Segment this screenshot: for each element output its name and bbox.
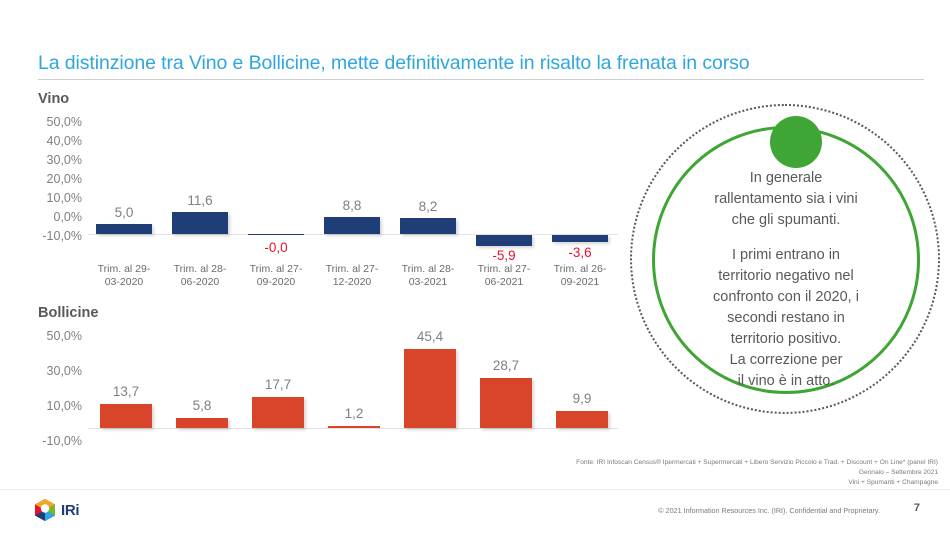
- value-label-bollicine-1: 5,8: [166, 398, 238, 413]
- callout-line-9: La correzione per: [668, 350, 904, 371]
- bar-vino-0[interactable]: [96, 224, 152, 234]
- x-label-vino-6-line1: Trim. al 26-: [544, 263, 616, 276]
- y-tick-bollicine-1: 30,0%: [20, 365, 82, 400]
- x-label-vino-6-line2: 09-2021: [544, 276, 616, 289]
- slide-footer: IRi © 2021 Information Resources Inc. (I…: [0, 489, 950, 534]
- x-label-vino-0-line1: Trim. al 29-: [88, 263, 160, 276]
- y-tick-vino-2: 30,0%: [20, 154, 82, 173]
- source-line-1: Fonte: IRI Infoscan Census® Ipermercati …: [576, 458, 938, 468]
- x-label-vino-1: Trim. al 28- 06-2020: [164, 263, 236, 289]
- bar-bollicine-4[interactable]: [404, 349, 456, 428]
- bar-vino-1[interactable]: [172, 212, 228, 234]
- x-label-vino-5-line1: Trim. al 27-: [468, 263, 540, 276]
- x-label-vino-3: Trim. al 27- 12-2020: [316, 263, 388, 289]
- callout-line-8: territorio positivo.: [668, 329, 904, 350]
- x-label-vino-1-line2: 06-2020: [164, 276, 236, 289]
- slide-canvas: La distinzione tra Vino e Bollicine, met…: [0, 0, 950, 534]
- value-label-vino-5: -5,9: [468, 248, 540, 263]
- bar-vino-2[interactable]: [248, 234, 304, 235]
- green-dot-icon: [770, 116, 822, 168]
- y-tick-vino-4: 10,0%: [20, 192, 82, 211]
- source-line-3: Vini + Spumanti + Champagne: [576, 478, 938, 488]
- x-label-vino-4: Trim. al 28- 03-2021: [392, 263, 464, 289]
- callout-line-1: In generale: [668, 168, 904, 189]
- x-label-vino-4-line1: Trim. al 28-: [392, 263, 464, 276]
- title-block: La distinzione tra Vino e Bollicine, met…: [38, 52, 918, 80]
- y-tick-bollicine-2: 10,0%: [20, 400, 82, 435]
- x-label-vino-4-line2: 03-2021: [392, 276, 464, 289]
- x-label-vino-2-line1: Trim. al 27-: [240, 263, 312, 276]
- y-tick-vino-5: 0,0%: [20, 211, 82, 230]
- callout-line-4: I primi entrano in: [668, 245, 904, 266]
- page-number: 7: [914, 502, 920, 514]
- source-line-2: Gennaio – Settembre 2021: [576, 468, 938, 478]
- title-divider: [38, 79, 924, 80]
- page-title: La distinzione tra Vino e Bollicine, met…: [38, 52, 918, 75]
- y-axis-vino: 50,0% 40,0% 30,0% 20,0% 10,0% 0,0% -10,0…: [20, 116, 82, 249]
- y-tick-vino-0: 50,0%: [20, 116, 82, 135]
- x-label-vino-5: Trim. al 27- 06-2021: [468, 263, 540, 289]
- x-label-vino-3-line2: 12-2020: [316, 276, 388, 289]
- callout-line-10: il vino è in atto.: [668, 371, 904, 392]
- callout-line-3: che gli spumanti.: [668, 210, 904, 231]
- iri-logo-text: IRi: [61, 502, 79, 519]
- x-label-vino-0: Trim. al 29- 03-2020: [88, 263, 160, 289]
- iri-logo: IRi: [34, 498, 79, 522]
- bar-bollicine-6[interactable]: [556, 411, 608, 428]
- chart-title-bollicine: Bollicine: [38, 305, 98, 321]
- bar-bollicine-1[interactable]: [176, 418, 228, 428]
- plot-area-bollicine: 13,7 5,8 17,7 1,2 45,4 28,7 9,9: [88, 328, 618, 438]
- value-label-bollicine-2: 17,7: [242, 377, 314, 392]
- callout-circle: In generale rallentamento sia i vini che…: [630, 104, 940, 414]
- iri-cube-icon: [34, 498, 56, 522]
- callout-line-2: rallentamento sia i vini: [668, 189, 904, 210]
- value-label-bollicine-3: 1,2: [318, 406, 390, 421]
- bar-bollicine-5[interactable]: [480, 378, 532, 428]
- source-note: Fonte: IRI Infoscan Census® Ipermercati …: [576, 458, 938, 489]
- value-label-vino-0: 5,0: [88, 205, 160, 220]
- bar-bollicine-3[interactable]: [328, 426, 380, 428]
- x-label-vino-3-line1: Trim. al 27-: [316, 263, 388, 276]
- y-axis-bollicine: 50,0% 30,0% 10,0% -10,0%: [20, 330, 82, 470]
- y-tick-vino-6: -10,0%: [20, 230, 82, 249]
- value-label-bollicine-5: 28,7: [470, 358, 542, 373]
- zero-axis-vino: [88, 234, 618, 235]
- x-label-vino-2-line2: 09-2020: [240, 276, 312, 289]
- x-label-vino-5-line2: 06-2021: [468, 276, 540, 289]
- x-label-vino-2: Trim. al 27- 09-2020: [240, 263, 312, 289]
- x-label-vino-6: Trim. al 26- 09-2021: [544, 263, 616, 289]
- bar-vino-5[interactable]: [476, 235, 532, 246]
- y-tick-vino-3: 20,0%: [20, 173, 82, 192]
- value-label-bollicine-4: 45,4: [394, 329, 466, 344]
- bar-bollicine-0[interactable]: [100, 404, 152, 428]
- zero-axis-bollicine: [88, 428, 618, 429]
- plot-area-vino: 5,0 11,6 -0,0 8,8 8,2 -5,9 -3,6: [88, 115, 618, 245]
- x-label-vino-0-line2: 03-2020: [88, 276, 160, 289]
- bar-vino-4[interactable]: [400, 218, 456, 234]
- bar-vino-3[interactable]: [324, 217, 380, 234]
- value-label-vino-4: 8,2: [392, 199, 464, 214]
- bar-bollicine-2[interactable]: [252, 397, 304, 428]
- value-label-bollicine-6: 9,9: [546, 391, 618, 406]
- x-label-vino-1-line1: Trim. al 28-: [164, 263, 236, 276]
- y-tick-vino-1: 40,0%: [20, 135, 82, 154]
- value-label-vino-1: 11,6: [164, 193, 236, 208]
- callout-line-5: territorio negativo nel: [668, 266, 904, 287]
- value-label-vino-2: -0,0: [240, 240, 312, 255]
- callout-line-6: confronto con il 2020, i: [668, 287, 904, 308]
- callout-line-7: secondi restano in: [668, 308, 904, 329]
- value-label-vino-6: -3,6: [544, 245, 616, 260]
- y-tick-bollicine-0: 50,0%: [20, 330, 82, 365]
- y-tick-bollicine-3: -10,0%: [20, 435, 82, 470]
- value-label-bollicine-0: 13,7: [90, 384, 162, 399]
- value-label-vino-3: 8,8: [316, 198, 388, 213]
- bar-vino-6[interactable]: [552, 235, 608, 242]
- chart-title-vino: Vino: [38, 91, 69, 107]
- copyright-text: © 2021 Information Resources Inc. (IRI).…: [658, 506, 880, 515]
- callout-text: In generale rallentamento sia i vini che…: [668, 168, 904, 392]
